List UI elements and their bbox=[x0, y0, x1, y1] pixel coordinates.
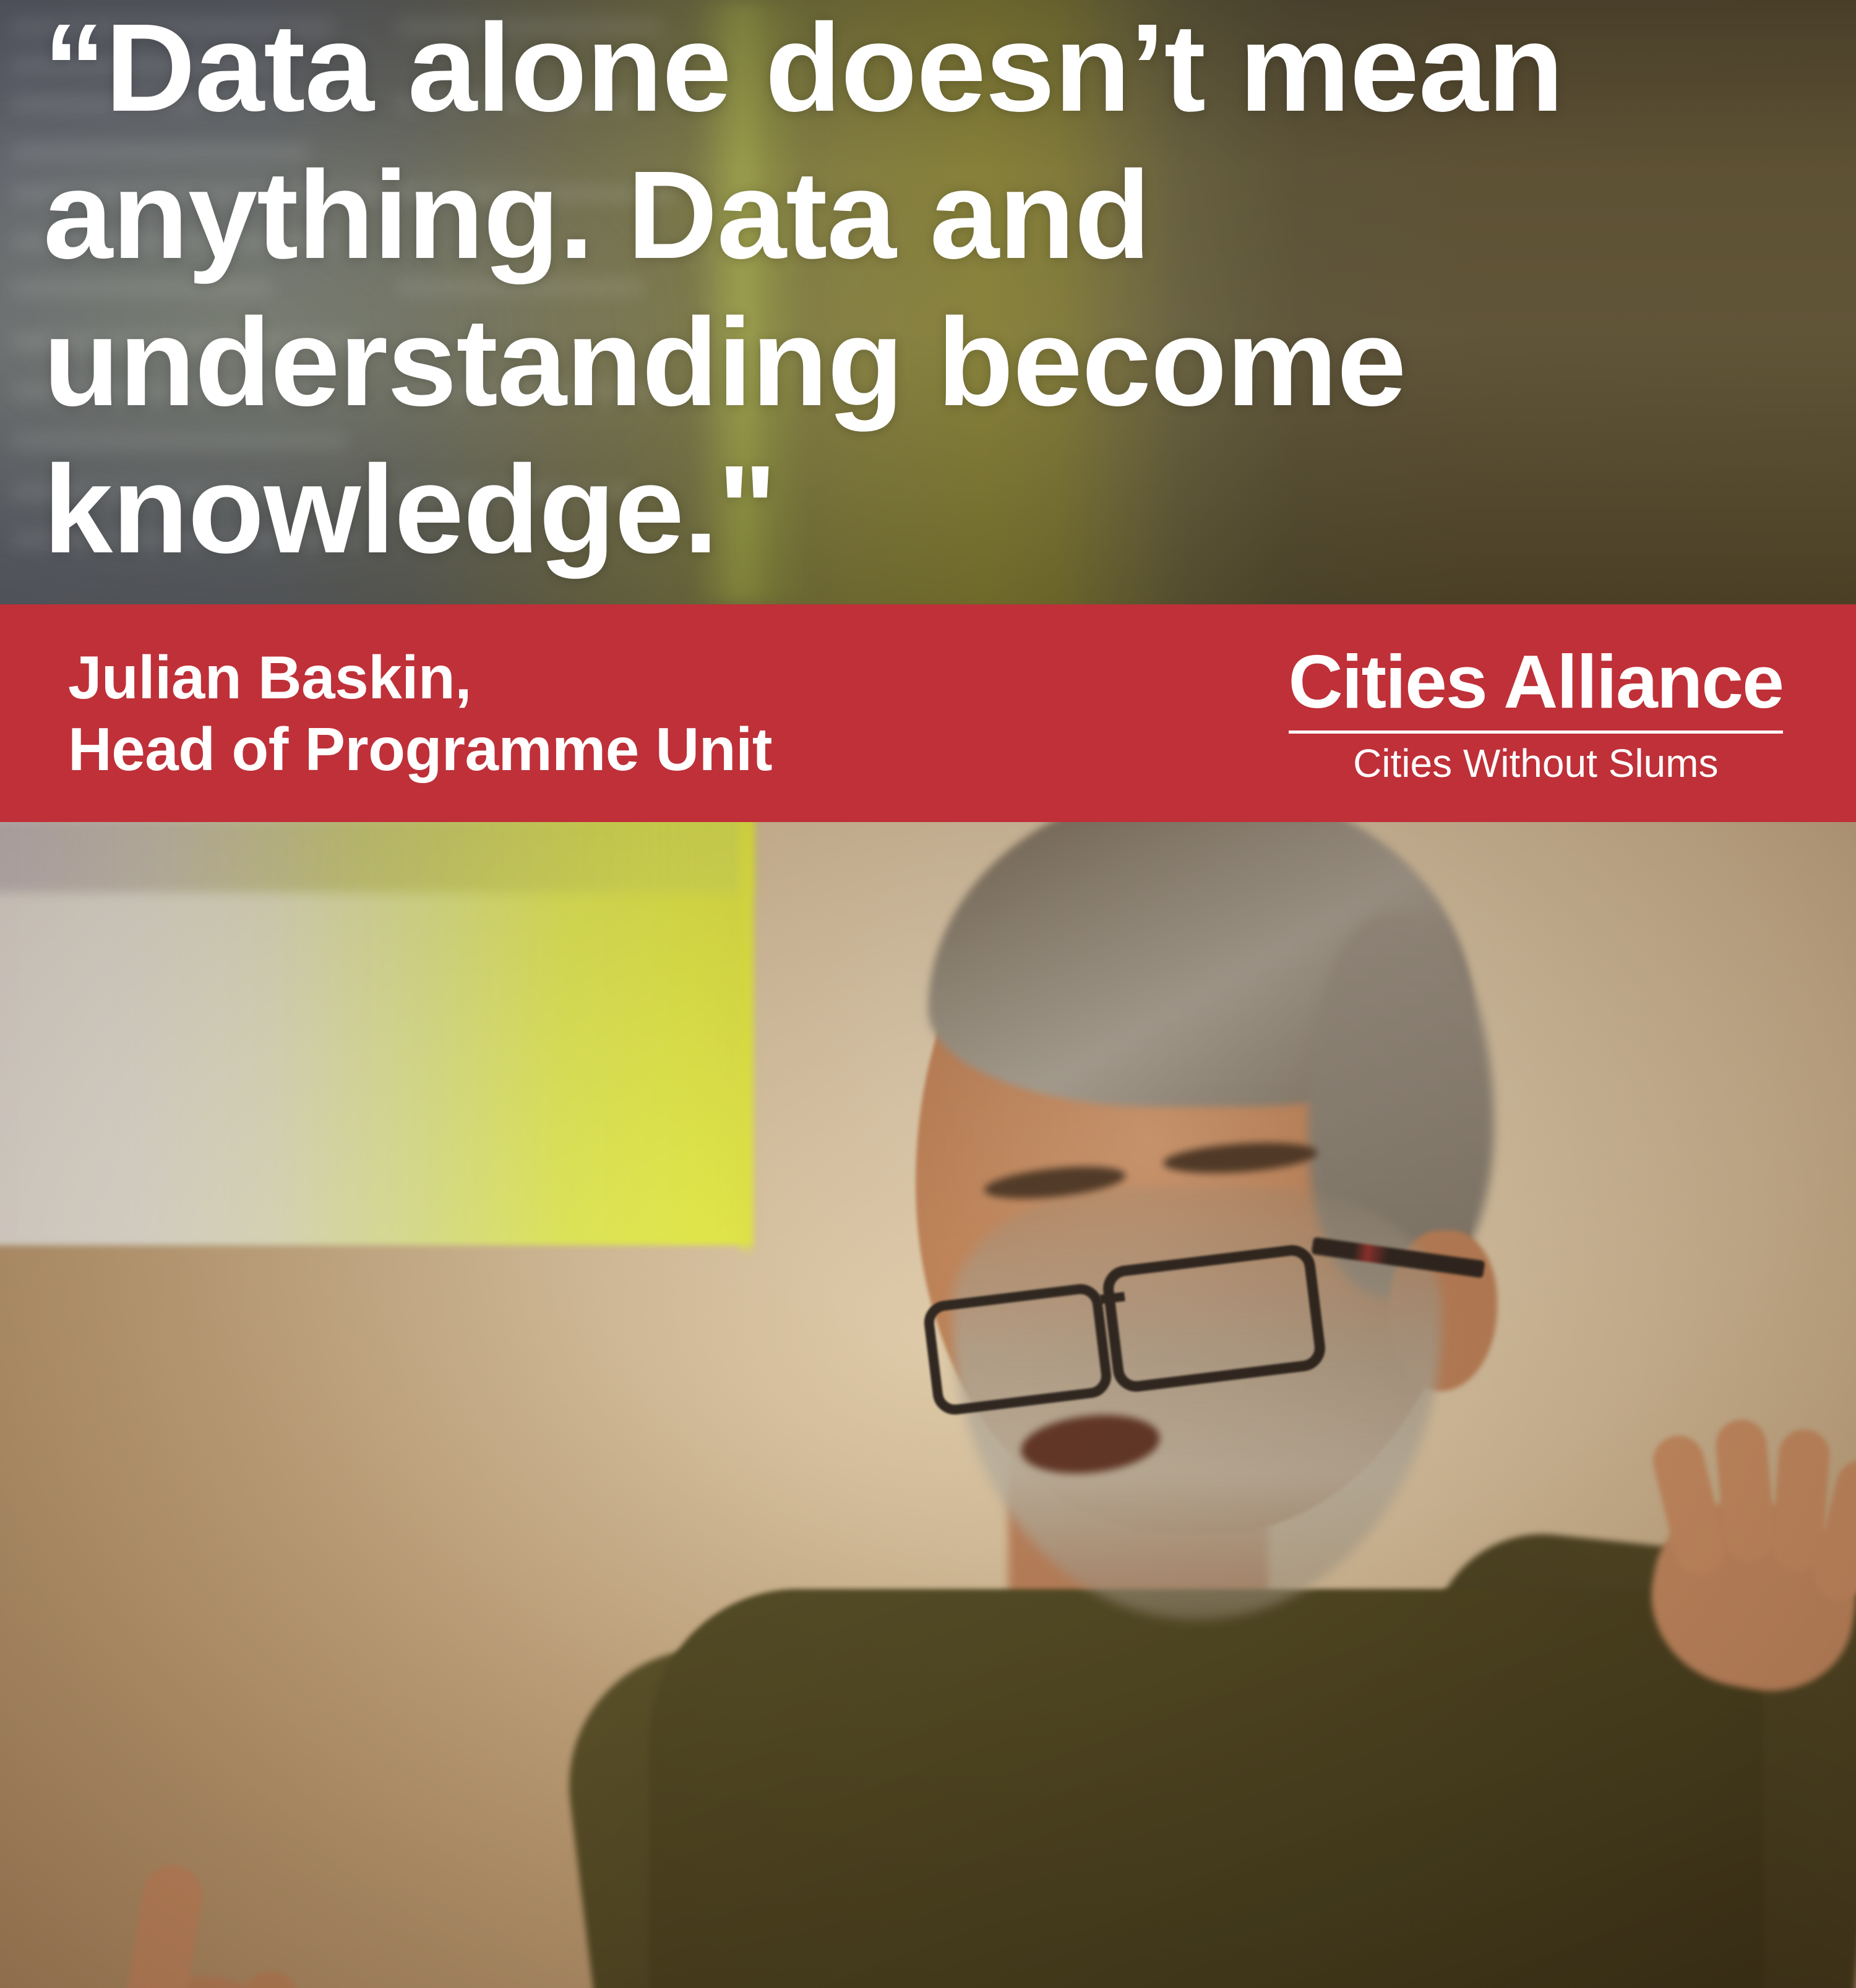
cities-alliance-logo: Cities Alliance Cities Without Slums bbox=[1289, 643, 1856, 784]
logo-wordmark: Cities Alliance bbox=[1289, 643, 1783, 721]
eyeglasses-lens-left bbox=[922, 1282, 1114, 1417]
hand-right bbox=[1627, 1416, 1856, 1713]
speaker-photograph: SENNHEISER bbox=[0, 822, 1856, 1988]
speaker-attribution: Julian Baskin, Head of Programme Unit bbox=[0, 641, 772, 785]
attribution-banner: Julian Baskin, Head of Programme Unit Ci… bbox=[0, 604, 1856, 822]
eyeglasses-lens-right bbox=[1101, 1243, 1328, 1395]
quote-text: “Data alone doesn’t mean anything. Data … bbox=[43, 0, 1627, 583]
logo-tagline: Cities Without Slums bbox=[1353, 742, 1718, 784]
quote-card: “Data alone doesn’t mean anything. Data … bbox=[0, 0, 1856, 1988]
speaker-figure bbox=[0, 822, 1856, 1988]
index-finger bbox=[119, 1861, 207, 1988]
tweed-jacket bbox=[650, 1589, 1763, 1988]
hand-left bbox=[62, 1886, 322, 1988]
quote-block: “Data alone doesn’t mean anything. Data … bbox=[0, 0, 1856, 604]
logo-divider bbox=[1289, 731, 1783, 734]
